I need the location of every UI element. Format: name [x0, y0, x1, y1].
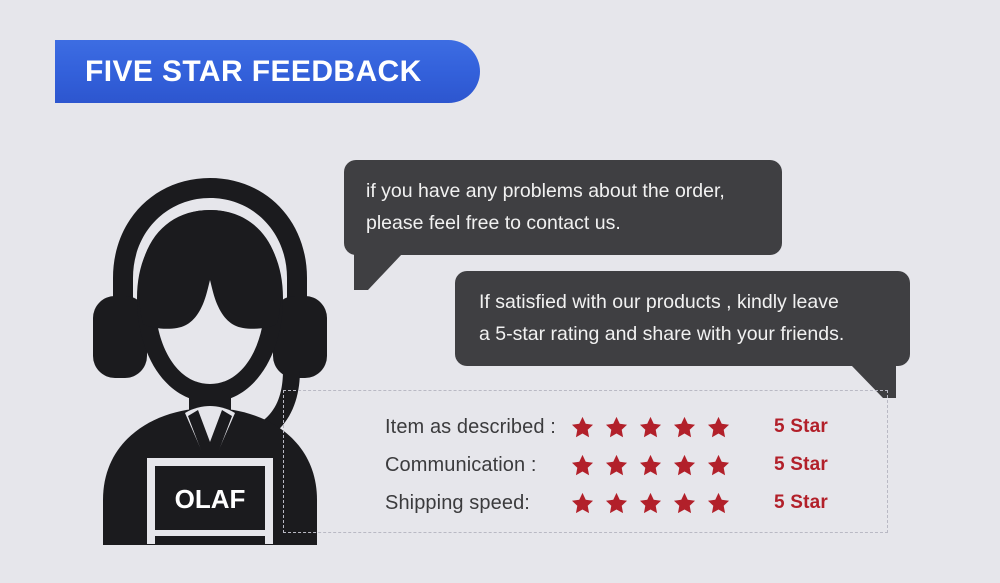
- star-icon: [672, 453, 697, 478]
- rating-value: 5 Star: [774, 416, 828, 438]
- rating-label: Communication :: [385, 454, 570, 477]
- star-icon: [570, 415, 595, 440]
- rating-value: 5 Star: [774, 454, 828, 476]
- support-bubble-text: if you have any problems about the order…: [366, 175, 762, 239]
- page-title: FIVE STAR FEEDBACK: [85, 40, 422, 103]
- rating-row-shipping-speed: Shipping speed: 5 Star: [385, 484, 845, 522]
- support-bubble-tail: [354, 254, 402, 290]
- rating-row-communication: Communication : 5 Star: [385, 446, 845, 484]
- hair: [139, 210, 281, 329]
- rating-stars: [570, 491, 774, 516]
- star-icon: [570, 491, 595, 516]
- star-icon: [604, 415, 629, 440]
- laptop-brand-text: OLAF: [175, 484, 246, 514]
- rating-value: 5 Star: [774, 492, 828, 514]
- star-icon: [638, 415, 663, 440]
- header-banner: FIVE STAR FEEDBACK: [55, 40, 480, 103]
- ratings-list: Item as described : 5 Star Communication…: [385, 408, 845, 522]
- star-icon: [672, 491, 697, 516]
- rating-row-item-as-described: Item as described : 5 Star: [385, 408, 845, 446]
- rating-label: Item as described :: [385, 416, 570, 439]
- rating-label: Shipping speed:: [385, 492, 570, 515]
- rating-request-bubble: If satisfied with our products , kindly …: [455, 271, 910, 366]
- star-icon: [604, 453, 629, 478]
- rating-stars: [570, 453, 774, 478]
- star-icon: [672, 415, 697, 440]
- star-icon: [706, 453, 731, 478]
- rating-stars: [570, 415, 774, 440]
- star-icon: [638, 453, 663, 478]
- star-icon: [604, 491, 629, 516]
- star-icon: [570, 453, 595, 478]
- support-bubble: if you have any problems about the order…: [344, 160, 782, 255]
- rating-request-bubble-text: If satisfied with our products , kindly …: [479, 286, 890, 350]
- feedback-banner-graphic: FIVE STAR FEEDBACK: [0, 0, 1000, 583]
- star-icon: [706, 415, 731, 440]
- star-icon: [638, 491, 663, 516]
- star-icon: [706, 491, 731, 516]
- laptop-base: [155, 536, 265, 545]
